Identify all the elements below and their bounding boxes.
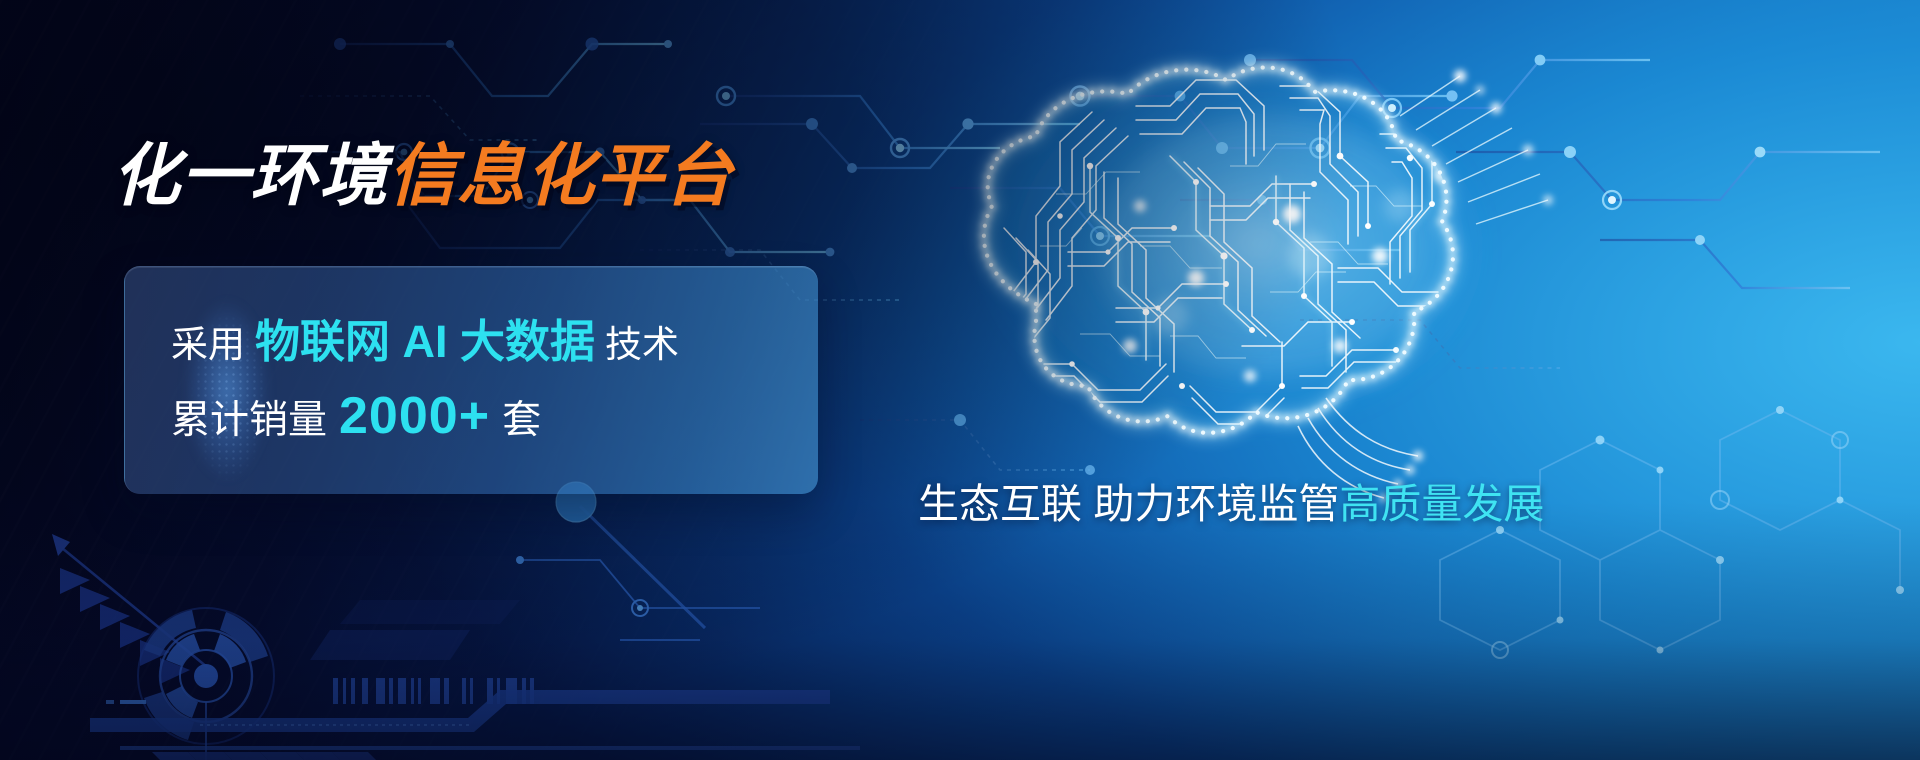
- card-line2-number: 2000+: [339, 387, 490, 445]
- circuit-brain-icon: [840, 46, 1600, 526]
- hud-radar-icon: [0, 460, 860, 760]
- card-line1-suffix: 技术: [595, 324, 679, 365]
- feature-card: 采用物联网 AI 大数据技术 累计销量2000+套: [124, 266, 818, 494]
- card-line2-prefix: 累计销量: [171, 399, 339, 442]
- title-plain: 化一环境: [112, 138, 388, 214]
- page-title: 化一环境信息化平台: [112, 142, 733, 210]
- title-highlight: 信息化平台: [388, 138, 733, 214]
- tagline: 生态互联 助力环境监管高质量发展: [918, 484, 1544, 525]
- tagline-plain: 生态互联 助力环境监管: [918, 481, 1339, 527]
- card-text-block: 采用物联网 AI 大数据技术 累计销量2000+套: [171, 267, 679, 494]
- card-line-sales: 累计销量2000+套: [171, 390, 679, 442]
- card-line2-suffix: 套: [490, 399, 541, 442]
- banner-root: 化一环境信息化平台 采用物联网 AI 大数据技术 累计销量2000+套 生态互联…: [0, 0, 1920, 760]
- card-line-technology: 采用物联网 AI 大数据技术: [171, 319, 679, 364]
- card-line1-highlight: 物联网 AI 大数据: [255, 316, 595, 367]
- card-line1-prefix: 采用: [171, 324, 255, 365]
- tagline-highlight: 高质量发展: [1339, 481, 1544, 527]
